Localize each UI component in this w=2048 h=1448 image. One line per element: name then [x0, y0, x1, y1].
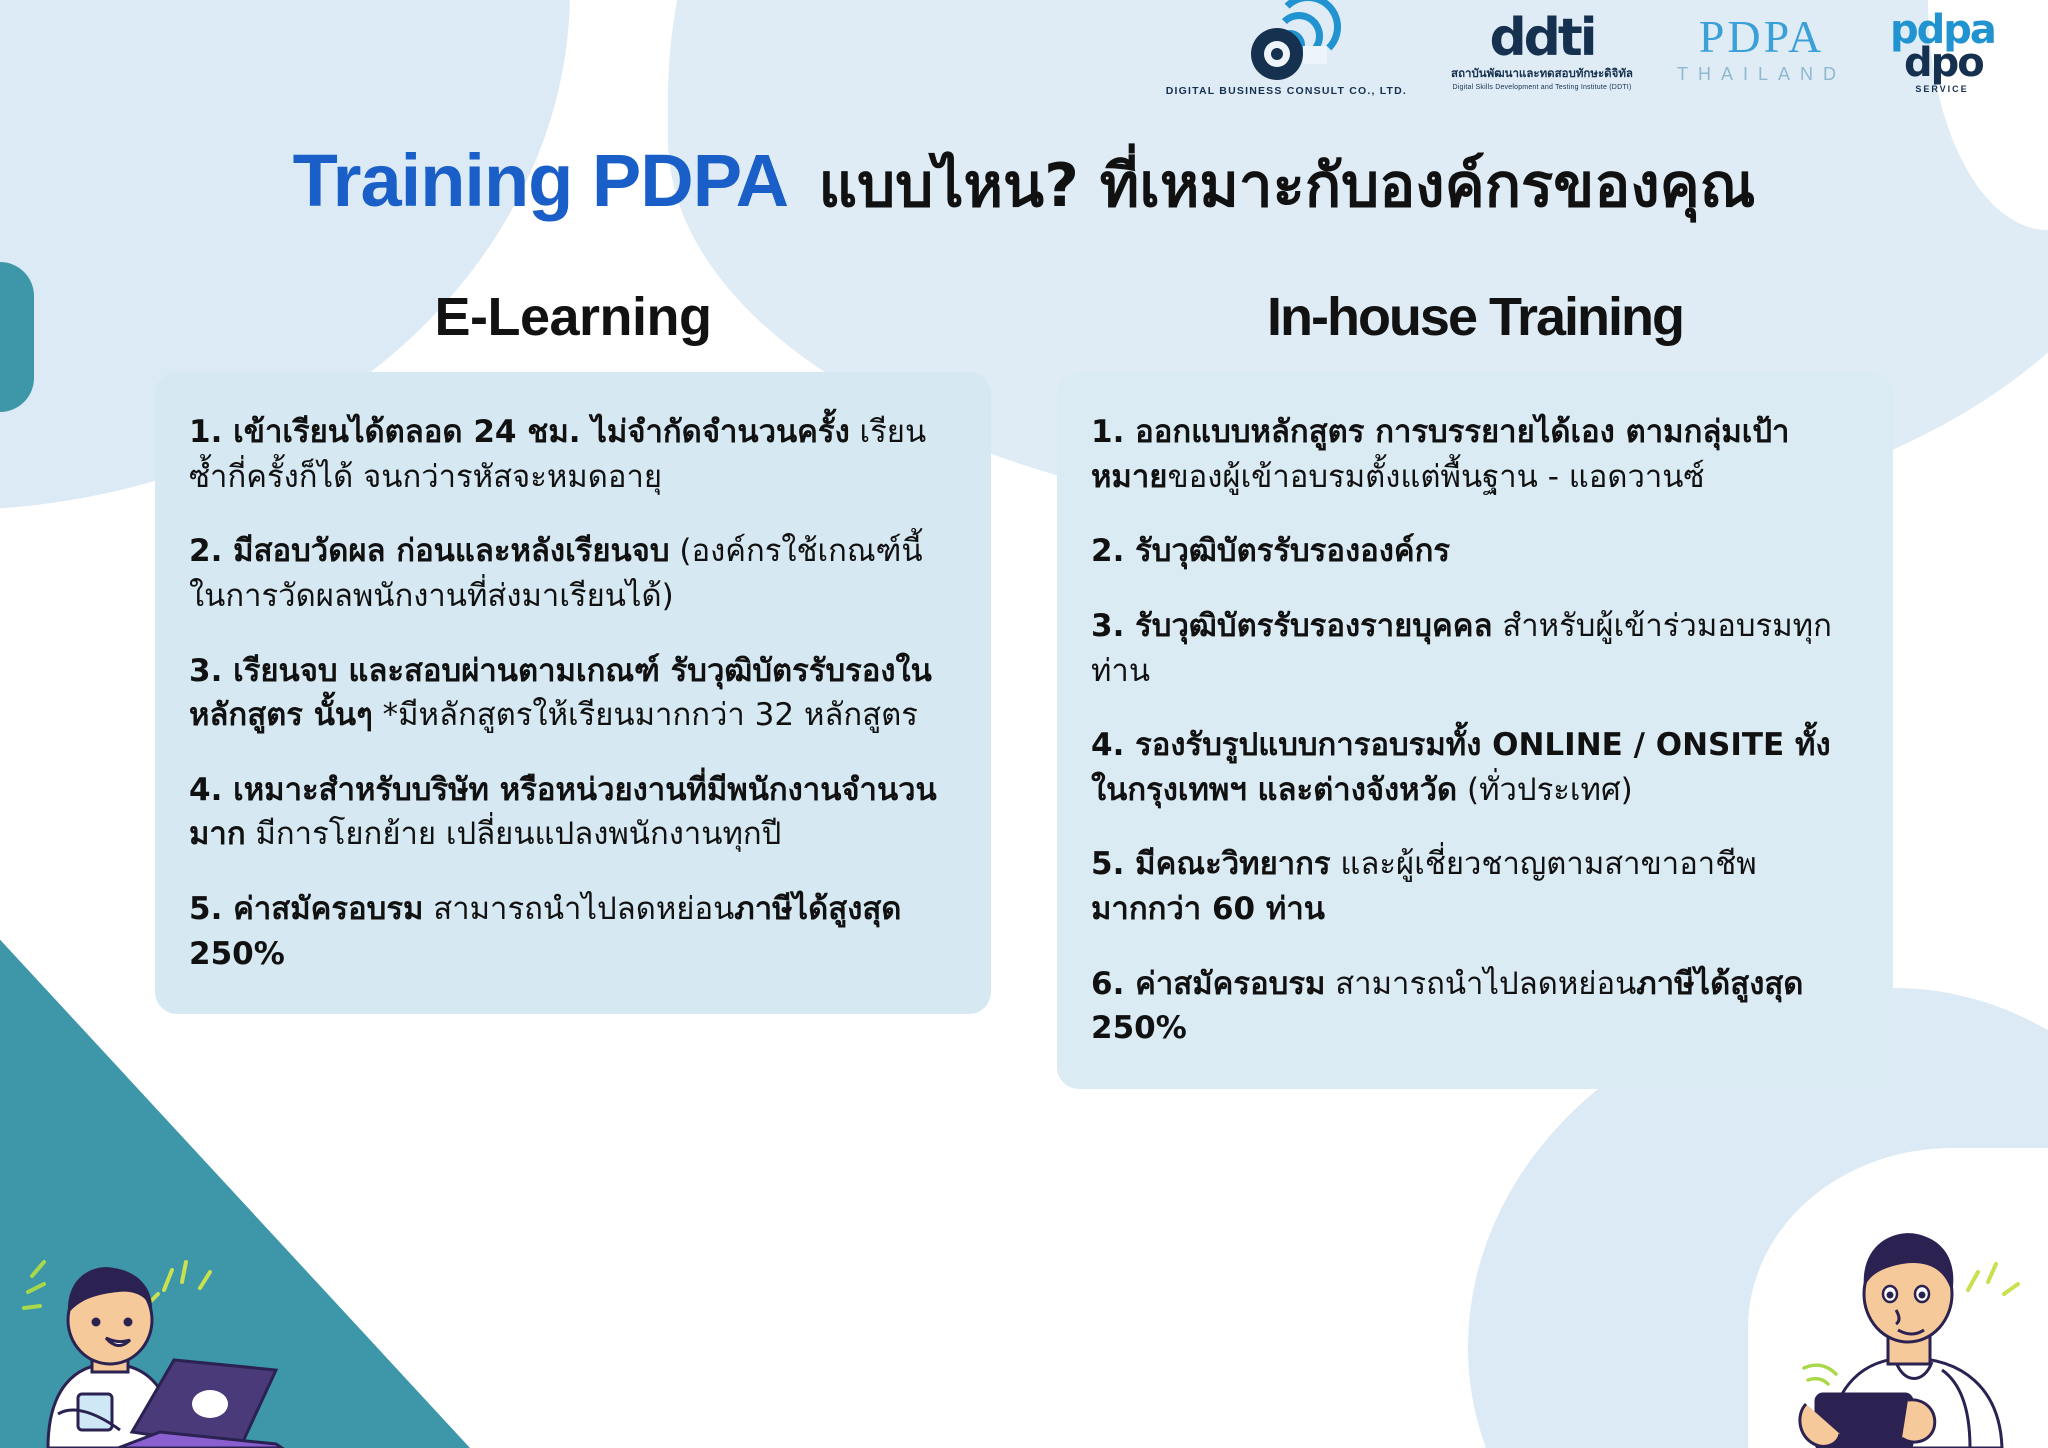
column-heading-in-house-training: In-house Training	[1057, 286, 1893, 348]
list-item-number: 5.	[189, 891, 222, 927]
list-item-text: 4. เหมาะสำหรับบริษัท หรือหน่วยงานที่มีพน…	[189, 768, 957, 857]
list-item-bold-text: ค่าสมัครอบรม	[1124, 966, 1325, 1002]
list-item-text: 2. รับวุฒิบัตรรับรององค์กร	[1091, 529, 1859, 574]
list-item: 1. เข้าเรียนได้ตลอด 24 ชม. ไม่จำกัดจำนวน…	[189, 410, 957, 499]
ddti-thai-name: สถาบันพัฒนาและทดสอบทักษะดิจิทัล	[1451, 65, 1633, 83]
list-item-text: 3. เรียนจบ และสอบผ่านตามเกณฑ์ รับวุฒิบัต…	[189, 649, 957, 738]
list-item-regular-text: มีการโยกย้าย เปลี่ยนแปลงพนักงานทุกปี	[246, 816, 782, 852]
list-item: 4. รองรับรูปแบบการอบรมทั้ง ONLINE / ONSI…	[1091, 723, 1859, 812]
e-learning-card: 1. เข้าเรียนได้ตลอด 24 ชม. ไม่จำกัดจำนวน…	[155, 372, 991, 1014]
poster-canvas: DIGITAL BUSINESS CONSULT CO., LTD. ddti …	[0, 0, 2048, 1448]
list-item-bold-text-2: มากกว่า 60 ท่าน	[1091, 891, 1325, 927]
list-item-number: 5.	[1091, 846, 1124, 882]
list-item: 4. เหมาะสำหรับบริษัท หรือหน่วยงานที่มีพน…	[189, 768, 957, 857]
list-item-regular-text: สามารถนำไปลดหย่อน	[423, 891, 734, 927]
list-item: 1. ออกแบบหลักสูตร การบรรยายได้เอง ตามกลุ…	[1091, 410, 1859, 499]
list-item-text: 2. มีสอบวัดผล ก่อนและหลังเรียนจบ (องค์กร…	[189, 529, 957, 618]
column-heading-e-learning: E-Learning	[155, 286, 991, 348]
page-title: Training PDPA แบบไหน? ที่เหมาะกับองค์กรข…	[0, 138, 2048, 233]
list-item-number: 3.	[189, 653, 222, 689]
list-item-regular-text: และผู้เชี่ยวชาญตามสาขาอาชีพ	[1331, 846, 1757, 882]
man-with-laptop-illustration	[14, 1218, 314, 1448]
list-item-text: 1. เข้าเรียนได้ตลอด 24 ชม. ไม่จำกัดจำนวน…	[189, 410, 957, 499]
column-e-learning: E-Learning 1. เข้าเรียนได้ตลอด 24 ชม. ไม…	[155, 286, 991, 1089]
list-item-number: 1.	[1091, 414, 1124, 450]
list-item-regular-text: (ทั่วประเทศ)	[1457, 772, 1633, 808]
column-in-house-training: In-house Training 1. ออกแบบหลักสูตร การบ…	[1057, 286, 1893, 1089]
list-item-number: 1.	[189, 414, 222, 450]
list-item-bold-text: รับวุฒิบัตรรับรองรายบุคคล	[1124, 608, 1492, 644]
comparison-columns: E-Learning 1. เข้าเรียนได้ตลอด 24 ชม. ไม…	[0, 286, 2048, 1089]
list-item-text: 1. ออกแบบหลักสูตร การบรรยายได้เอง ตามกลุ…	[1091, 410, 1859, 499]
dbc-logo-icon	[1247, 14, 1325, 80]
list-item-regular-text: สามารถนำไปลดหย่อน	[1325, 966, 1636, 1002]
title-thai: แบบไหน? ที่เหมาะกับองค์กรของคุณ	[818, 151, 1755, 221]
list-item: 2. มีสอบวัดผล ก่อนและหลังเรียนจบ (องค์กร…	[189, 529, 957, 618]
list-item: 3. เรียนจบ และสอบผ่านตามเกณฑ์ รับวุฒิบัต…	[189, 649, 957, 738]
list-item-text: 5. ค่าสมัครอบรม สามารถนำไปลดหย่อนภาษีได้…	[189, 887, 957, 976]
list-item-regular-text: *มีหลักสูตรให้เรียนมากกว่า 32 หลักสูตร	[373, 697, 918, 733]
pdpa-dpo-service-logo: pdpa dpo SERVICE	[1890, 14, 1994, 94]
dbc-logo-caption: DIGITAL BUSINESS CONSULT CO., LTD.	[1166, 85, 1407, 97]
list-item-text: 3. รับวุฒิบัตรรับรองรายบุคคล สำหรับผู้เข…	[1091, 604, 1859, 693]
list-item-bold-text: มีสอบวัดผล ก่อนและหลังเรียนจบ	[222, 533, 669, 569]
list-item-bold-text: เข้าเรียนได้ตลอด 24 ชม. ไม่จำกัดจำนวนครั…	[222, 414, 849, 450]
list-item-number: 4.	[189, 772, 222, 808]
title-english: Training PDPA	[293, 139, 788, 222]
list-item-number: 6.	[1091, 966, 1124, 1002]
ddti-wordmark: ddti	[1489, 14, 1594, 63]
in-house-training-card: 1. ออกแบบหลักสูตร การบรรยายได้เอง ตามกลุ…	[1057, 372, 1893, 1089]
pdpa-thailand-logo: PDPA THAILAND	[1677, 14, 1846, 85]
pdpa-dpo-wordmark: pdpa dpo	[1890, 14, 1994, 86]
list-item-text: 4. รองรับรูปแบบการอบรมทั้ง ONLINE / ONSI…	[1091, 723, 1859, 812]
pdpa-thailand-wordmark: PDPA	[1699, 14, 1824, 60]
logo-row: DIGITAL BUSINESS CONSULT CO., LTD. ddti …	[1166, 14, 1994, 97]
list-item: 3. รับวุฒิบัตรรับรองรายบุคคล สำหรับผู้เข…	[1091, 604, 1859, 693]
ddti-logo: ddti สถาบันพัฒนาและทดสอบทักษะดิจิทัล Dig…	[1451, 14, 1633, 91]
list-item-number: 4.	[1091, 727, 1124, 763]
list-item-bold-text: มีคณะวิทยากร	[1124, 846, 1330, 882]
list-item-text: 6. ค่าสมัครอบรม สามารถนำไปลดหย่อนภาษีได้…	[1091, 962, 1859, 1051]
dbc-logo: DIGITAL BUSINESS CONSULT CO., LTD.	[1166, 14, 1407, 97]
list-item-regular-text: ของผู้เข้าอบรมตั้งแต่พื้นฐาน - แอดวานซ์	[1167, 459, 1704, 495]
list-item: 5. มีคณะวิทยากร และผู้เชี่ยวชาญตามสาขาอา…	[1091, 842, 1859, 931]
pdpa-thailand-subtitle: THAILAND	[1677, 64, 1846, 85]
ddti-english-name: Digital Skills Development and Testing I…	[1453, 84, 1632, 91]
list-item: 2. รับวุฒิบัตรรับรององค์กร	[1091, 529, 1859, 574]
list-item-number: 3.	[1091, 608, 1124, 644]
list-item-bold-text: ค่าสมัครอบรม	[222, 891, 423, 927]
list-item-number: 2.	[189, 533, 222, 569]
list-item: 5. ค่าสมัครอบรม สามารถนำไปลดหย่อนภาษีได้…	[189, 887, 957, 976]
list-item-number: 2.	[1091, 533, 1124, 569]
pdpa-dpo-bottom-text: dpo	[1904, 47, 1994, 80]
list-item-text: 5. มีคณะวิทยากร และผู้เชี่ยวชาญตามสาขาอา…	[1091, 842, 1859, 931]
list-item: 6. ค่าสมัครอบรม สามารถนำไปลดหย่อนภาษีได้…	[1091, 962, 1859, 1051]
list-item-bold-text: รับวุฒิบัตรรับรององค์กร	[1124, 533, 1450, 569]
man-with-smartphone-illustration	[1756, 1198, 2036, 1448]
